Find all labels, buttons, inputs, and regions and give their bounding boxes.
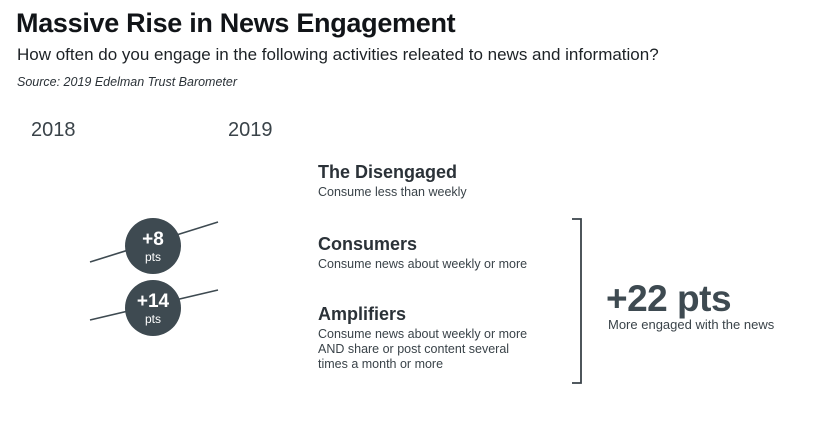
legend-title: Amplifiers — [318, 304, 527, 325]
callout-value: +22 pts — [606, 278, 731, 320]
legend-description: Consume news about weekly or more AND sh… — [318, 327, 527, 372]
legend-item-consumers: Consumers Consume news about weekly or m… — [318, 234, 527, 272]
bar-2019-disengaged: 28 — [218, 155, 292, 222]
axis-label-2018: 2018 — [31, 119, 76, 142]
delta-badge-value: +8 — [142, 230, 164, 249]
delta-badge-unit: pts — [145, 313, 161, 325]
bar-2018-consumers: 24 — [18, 262, 90, 320]
axis-label-2019: 2019 — [228, 119, 273, 142]
legend-description: Consume less than weekly — [318, 185, 467, 200]
callout-description: More engaged with the news — [608, 317, 774, 332]
legend-title: Consumers — [318, 234, 527, 255]
delta-badge-amplifiers: +14 pts — [125, 280, 181, 336]
page-subtitle: How often do you engage in the following… — [17, 45, 659, 65]
bar-2019-amplifiers: 40 — [218, 290, 292, 385]
delta-badge-disengaged: +8 pts — [125, 218, 181, 274]
bar-2018-disengaged: 49 — [18, 150, 90, 262]
grouping-bracket-icon — [571, 218, 583, 384]
delta-badge-unit: pts — [145, 251, 161, 263]
legend-description: Consume news about weekly or more — [318, 257, 527, 272]
legend-item-disengaged: The Disengaged Consume less than weekly — [318, 162, 467, 200]
bar-2019-consumers: 32 — [218, 222, 292, 290]
page-title: Massive Rise in News Engagement — [16, 8, 455, 39]
source-note: Source: 2019 Edelman Trust Barometer — [17, 75, 237, 89]
delta-badge-value: +14 — [137, 292, 169, 311]
infographic-canvas: Massive Rise in News Engagement How ofte… — [0, 0, 830, 429]
legend-title: The Disengaged — [318, 162, 467, 183]
bar-2018-amplifiers: 26 — [18, 320, 90, 380]
legend-item-amplifiers: Amplifiers Consume news about weekly or … — [318, 304, 527, 372]
